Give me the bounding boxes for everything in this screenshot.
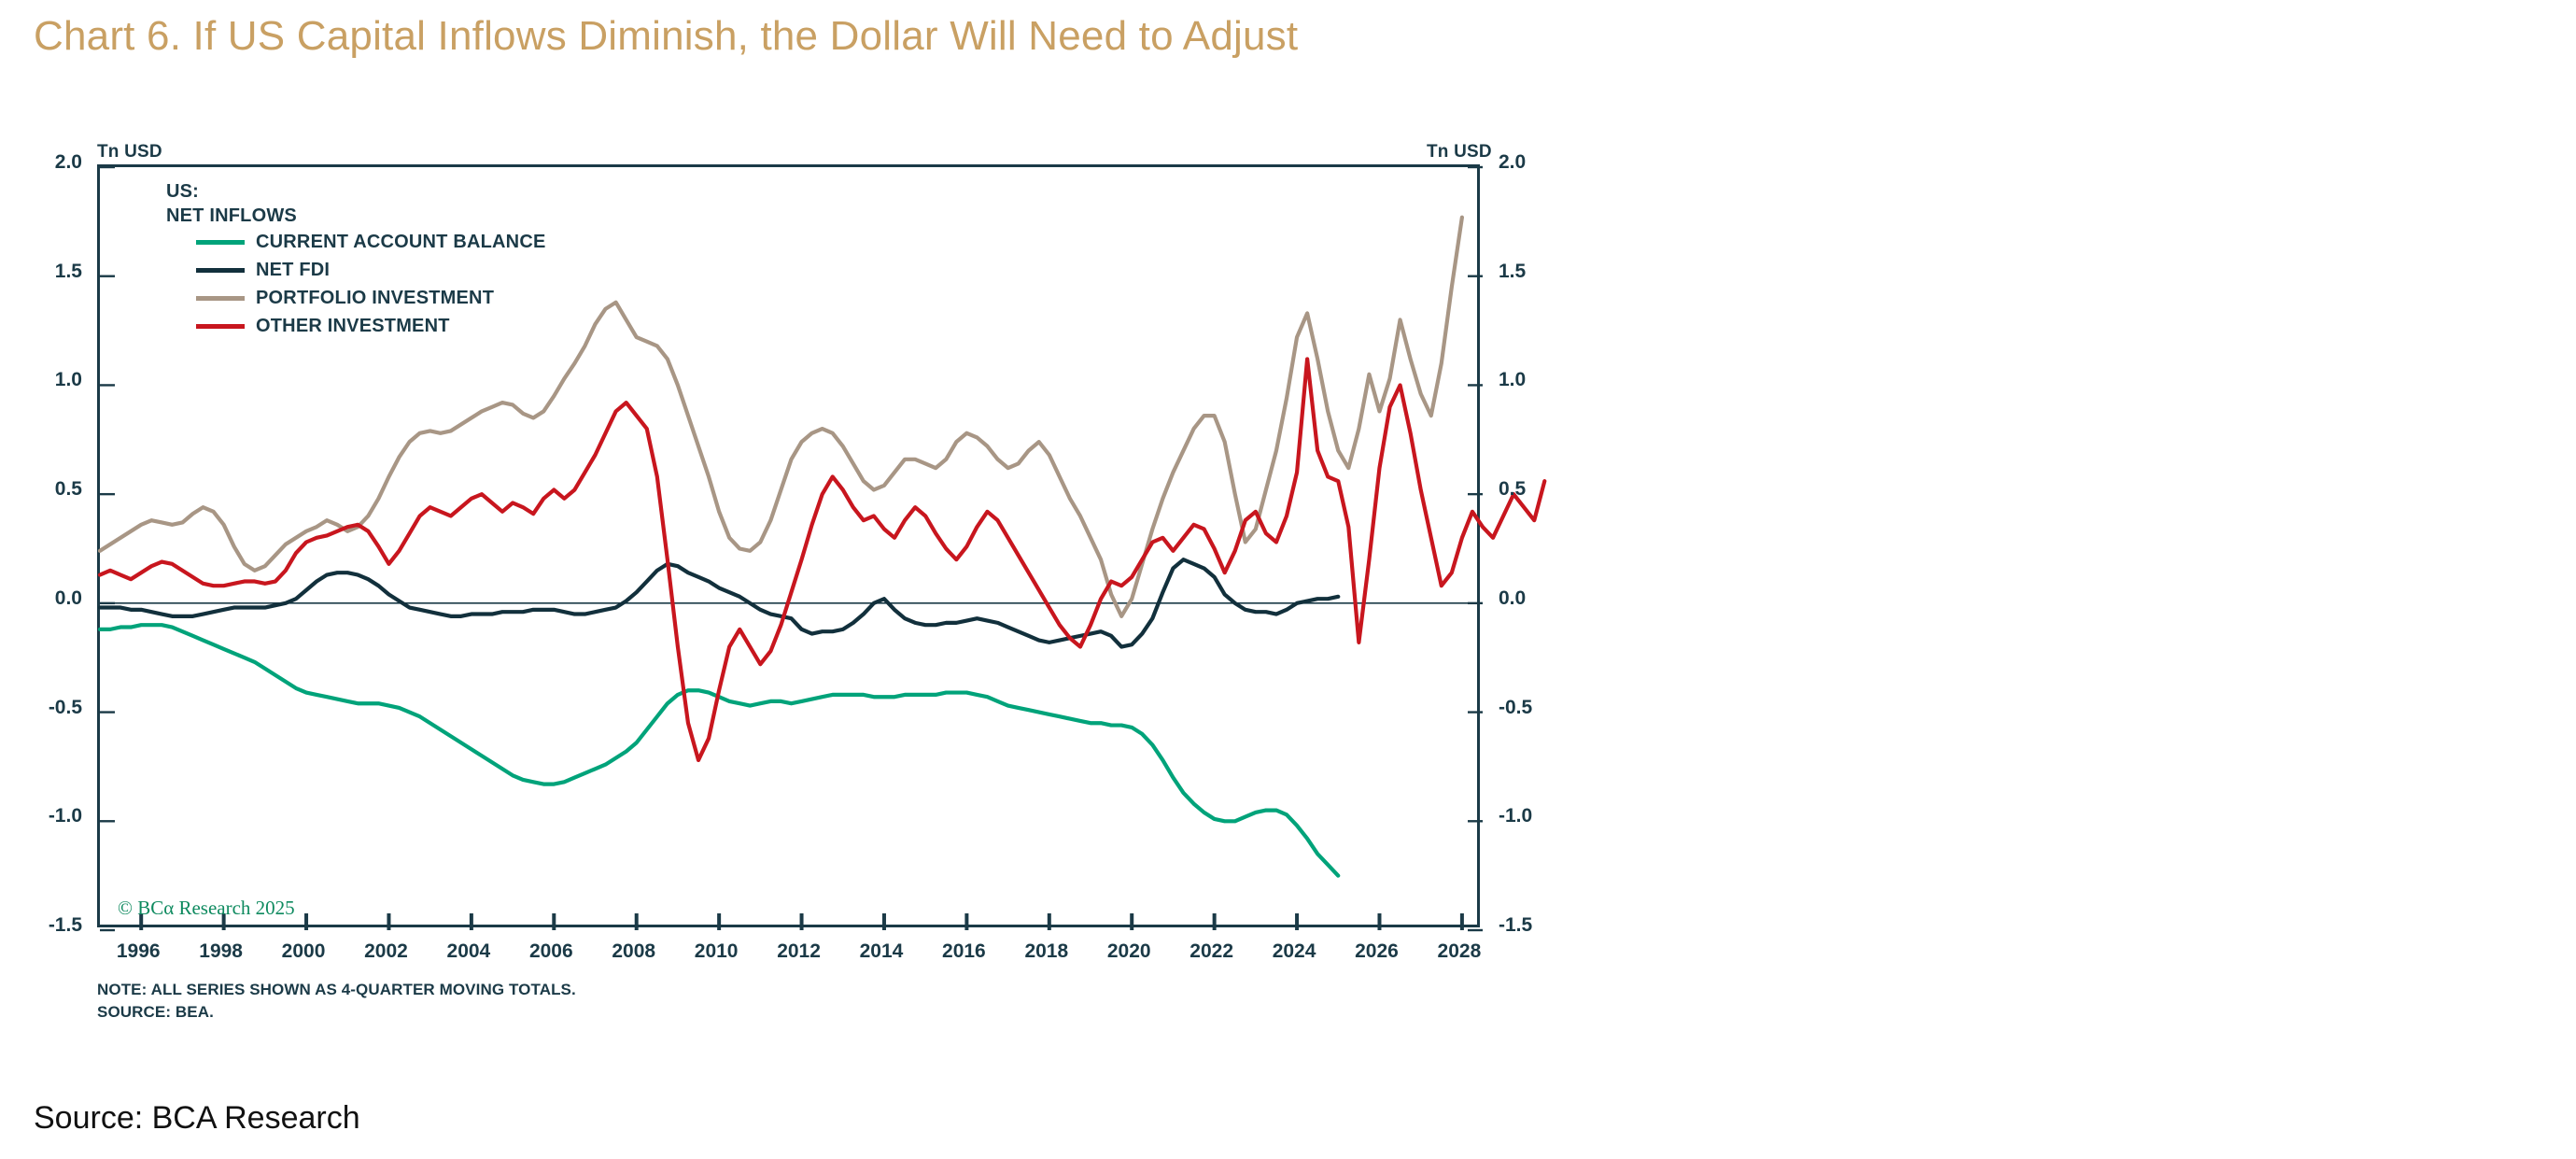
x-tick-label: 2020 (1107, 940, 1151, 963)
x-tick-label: 2000 (282, 940, 326, 963)
chart-legend: US: NET INFLOWS CURRENT ACCOUNT BALANCEN… (166, 179, 546, 340)
series-line-0 (100, 625, 1338, 875)
x-tick-label: 2012 (777, 940, 821, 963)
y-tick-label-left: 2.0 (26, 151, 82, 174)
legend-swatch-icon (196, 240, 245, 245)
copyright-notice: © BCα Research 2025 (118, 897, 295, 920)
x-tick-label: 2026 (1355, 940, 1399, 963)
x-tick-label: 2016 (942, 940, 986, 963)
chart-figure: Tn USD Tn USD -1.5-1.0-0.50.00.51.01.52.… (0, 112, 1587, 1055)
legend-label: OTHER INVESTMENT (256, 316, 450, 337)
y-tick-label-left: 0.5 (26, 478, 82, 501)
y-tick-label-left: 0.0 (26, 587, 82, 610)
y-axis-unit-right: Tn USD (1427, 142, 1492, 163)
legend-label: CURRENT ACCOUNT BALANCE (256, 232, 546, 253)
legend-swatch-icon (196, 296, 245, 301)
legend-header-line1: US: (166, 179, 546, 204)
x-tick-label: 2018 (1024, 940, 1068, 963)
x-tick-label: 1998 (199, 940, 243, 963)
y-tick-label-right: -0.5 (1499, 697, 1555, 719)
legend-label: PORTFOLIO INVESTMENT (256, 288, 494, 309)
y-tick-label-left: -1.5 (26, 914, 82, 937)
x-tick-label: 2004 (447, 940, 491, 963)
x-tick-label: 2006 (529, 940, 573, 963)
y-tick-label-left: -0.5 (26, 697, 82, 719)
x-tick-label: 2014 (860, 940, 904, 963)
page-title: Chart 6. If US Capital Inflows Diminish,… (34, 13, 1298, 60)
legend-swatch-icon (196, 268, 245, 273)
y-tick-label-right: 2.0 (1499, 151, 1555, 174)
y-tick-label-right: 1.0 (1499, 369, 1555, 391)
x-tick-label: 2002 (364, 940, 408, 963)
source-caption: Source: BCA Research (34, 1100, 360, 1137)
x-tick-label: 2008 (612, 940, 655, 963)
legend-item-3[interactable]: OTHER INVESTMENT (166, 312, 546, 340)
series-line-3 (100, 359, 1544, 760)
y-tick-label-left: 1.0 (26, 369, 82, 391)
chart-source: SOURCE: BEA. (97, 1003, 214, 1022)
legend-header-line2: NET INFLOWS (166, 204, 546, 228)
legend-swatch-icon (196, 324, 245, 329)
legend-item-2[interactable]: PORTFOLIO INVESTMENT (166, 284, 546, 312)
y-tick-label-right: -1.5 (1499, 914, 1555, 937)
x-tick-label: 2022 (1189, 940, 1233, 963)
y-tick-label-right: 0.0 (1499, 587, 1555, 610)
x-tick-label: 2028 (1438, 940, 1482, 963)
x-tick-label: 2010 (695, 940, 739, 963)
y-tick-label-right: -1.0 (1499, 805, 1555, 827)
chart-note: NOTE: ALL SERIES SHOWN AS 4-QUARTER MOVI… (97, 981, 576, 999)
y-axis-unit-left: Tn USD (97, 142, 162, 163)
legend-item-1[interactable]: NET FDI (166, 256, 546, 284)
y-tick-label-left: -1.0 (26, 805, 82, 827)
x-tick-label: 2024 (1273, 940, 1316, 963)
y-tick-label-left: 1.5 (26, 261, 82, 283)
legend-label: NET FDI (256, 260, 330, 281)
y-tick-label-right: 0.5 (1499, 478, 1555, 501)
y-tick-label-right: 1.5 (1499, 261, 1555, 283)
x-tick-label: 1996 (117, 940, 161, 963)
legend-item-0[interactable]: CURRENT ACCOUNT BALANCE (166, 228, 546, 256)
